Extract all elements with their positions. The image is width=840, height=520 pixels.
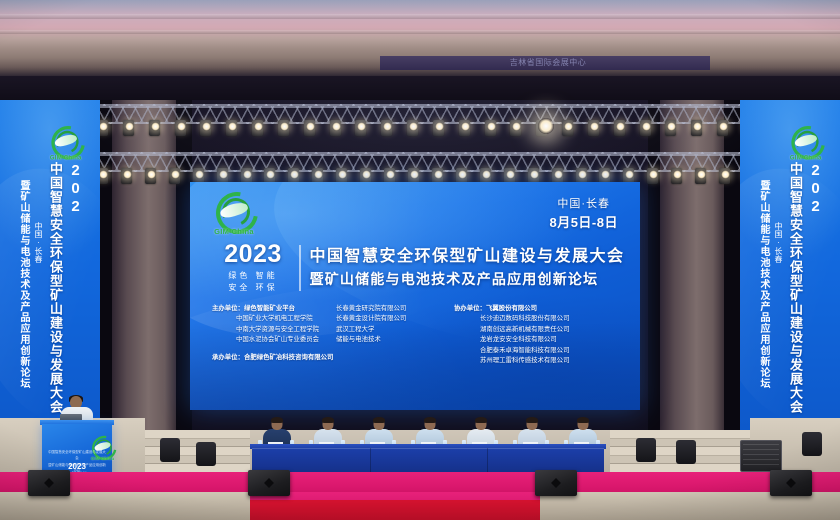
organizer-line: 承办单位：合肥绿色矿冶科技咨询有限公司 [212, 353, 330, 363]
stage-light [458, 170, 467, 179]
stage-light [306, 122, 315, 131]
title-divider [299, 245, 301, 291]
venue-sign-text: 吉林省国际会展中心 [398, 57, 698, 69]
event-keywords: 绿色 智能 安全 环保 [216, 270, 290, 293]
banner-year-right: 2023 [807, 162, 824, 218]
wall-shadow [724, 100, 740, 430]
stage-light [461, 122, 470, 131]
cohost-label: 协办单位：飞翼股份有限公司 [454, 304, 604, 314]
ceiling-beam [0, 30, 840, 34]
stage-floor-light [196, 442, 216, 466]
stage-light [123, 170, 132, 179]
stage-light [434, 170, 443, 179]
panelist-hair [322, 417, 334, 423]
event-title-main: 中国智慧安全环保型矿山建设与发展大会 [310, 247, 625, 267]
panelist-hair [577, 417, 589, 423]
host-label: 主办单位：绿色智能矿业平台 [212, 304, 330, 314]
panelist-hair [424, 417, 436, 423]
stage-light [171, 170, 180, 179]
panelist-hair [475, 417, 487, 423]
stage-light [530, 170, 539, 179]
host-item: 中国水泥协会矿山专业委员会 [212, 335, 330, 345]
stage-floor-light [636, 438, 656, 462]
host-item: 长春黄金设计院有限公司 [336, 314, 448, 324]
event-location-date: 中国·长春 8月5日-8日 [549, 196, 618, 232]
banner-text-columns-right: 2023 中国智慧安全环保型矿山建设与发展大会 中国·长春 暨矿山储能与电池技术… [740, 162, 840, 462]
stage-light [590, 122, 599, 131]
stage-light [482, 170, 491, 179]
host-item: 中南大学资源与安全工程学院 [212, 325, 330, 335]
panelist-hair [271, 417, 283, 423]
stage-light [254, 122, 263, 131]
stage-light [177, 122, 186, 131]
host-item: 中国矿业大学机电工程学院 [212, 314, 330, 324]
banner-year-left: 2023 [67, 162, 84, 218]
right-vertical-banner: GIM China 2023 中国智慧安全环保型矿山建设与发展大会 中国·长春 … [740, 100, 840, 470]
gim-china-logo-icon: GIM China [208, 192, 260, 240]
floor-monitor-speaker [28, 470, 70, 496]
stage-light [506, 170, 515, 179]
host-item: 长春黄金研究院有限公司 [336, 304, 448, 314]
logo-text: GIM China [45, 154, 87, 161]
stage-light [125, 122, 134, 131]
red-carpet-runner [250, 500, 540, 520]
stage-light [195, 170, 204, 179]
stage-light [99, 170, 108, 179]
cohost-column: 协办单位：飞翼股份有限公司 长沙迪迈数码科技股份有限公司 湖南创远高新机械有限责… [454, 304, 604, 396]
floor-monitor-speaker [770, 470, 812, 496]
stage-steps-left [140, 430, 250, 476]
stage-light [409, 122, 418, 131]
banner-city-right: 中国·长春 [773, 222, 784, 266]
stage-light [410, 170, 419, 179]
podium-title-main: 中国智慧安全环保型矿山建设与发展大会 [48, 449, 106, 462]
stage-floor-light [802, 432, 822, 456]
cohost-item: 长沙迪迈数码科技股份有限公司 [454, 314, 604, 324]
stage-light [721, 170, 730, 179]
banner-subtitle-right: 暨矿山储能与电池技术及产品应用创新论坛 [756, 180, 771, 450]
gim-china-logo-icon: GIM China [785, 126, 827, 164]
banner-subtitle-left: 暨矿山储能与电池技术及产品应用创新论坛 [16, 180, 31, 450]
event-dates: 8月5日-8日 [549, 213, 618, 233]
stage-pillar-left [112, 100, 178, 430]
sponsor-block: 主办单位：绿色智能矿业平台 中国矿业大学机电工程学院 中南大学资源与安全工程学院… [212, 304, 620, 396]
conference-stage-photo: 吉林省国际会展中心 GIM China 2023 中国智慧安全环保型矿山建设与发… [0, 0, 840, 520]
event-titles: 中国智慧安全环保型矿山建设与发展大会 暨矿山储能与电池技术及产品应用创新论坛 [310, 247, 625, 288]
stage-light [280, 122, 289, 131]
cohost-item: 湖南创远高新机械有限责任公司 [454, 325, 604, 335]
event-title-sub: 暨矿山储能与电池技术及产品应用创新论坛 [310, 270, 625, 288]
equipment-case [740, 440, 782, 472]
stage-light [538, 118, 554, 134]
stage-floor-light [160, 438, 180, 462]
stage-light-row-upper [92, 120, 752, 142]
stage-light [435, 122, 444, 131]
cohost-item: 合肥泰禾卓海智能科技有限公司 [454, 346, 604, 356]
ceiling-beam [0, 14, 840, 19]
cohost-item: 龙岩龙安安全科技有限公司 [454, 335, 604, 345]
event-year: 2023 [216, 242, 290, 267]
host-column-1: 主办单位：绿色智能矿业平台 中国矿业大学机电工程学院 中南大学资源与安全工程学院… [212, 304, 330, 396]
main-led-screen: GIM China 中国·长春 8月5日-8日 2023 绿色 智能 安全 环保… [190, 182, 640, 410]
banner-city-left: 中国·长春 [33, 222, 44, 266]
stage-light [147, 170, 156, 179]
stage-light [554, 170, 563, 179]
host-item: 武汉工程大学 [336, 325, 448, 335]
host-item: 储能与电池技术 [336, 335, 448, 345]
floor-monitor-speaker [535, 470, 577, 496]
case-texture [743, 444, 779, 468]
stage-light [243, 170, 252, 179]
stage-light [332, 122, 341, 131]
stage-pillar-right [660, 100, 726, 430]
banner-title-right: 中国智慧安全环保型矿山建设与发展大会 [786, 162, 805, 460]
stage-light [219, 170, 228, 179]
stage-light [487, 122, 496, 131]
stage-floor-light [676, 440, 696, 464]
stage-light [642, 122, 651, 131]
host-column-2: 长春黄金研究院有限公司 长春黄金设计院有限公司 武汉工程大学 储能与电池技术 [336, 304, 448, 396]
logo-text: GIM China [785, 154, 827, 161]
keyword-line-2: 安全 环保 [216, 282, 290, 294]
keyword-line-1: 绿色 智能 [216, 270, 290, 282]
panelist-hair [526, 417, 538, 423]
gim-china-logo-icon: GIM China [45, 126, 87, 164]
logo-text: GIM China [208, 227, 260, 236]
stage-light [99, 122, 108, 131]
cohost-item: 苏州理工雷科传感技术有限公司 [454, 356, 604, 366]
stage-light [578, 170, 587, 179]
panelist-hair [373, 417, 385, 423]
stage-light [151, 122, 160, 131]
stage-light [616, 122, 625, 131]
event-year-block: 2023 绿色 智能 安全 环保 [216, 242, 290, 293]
event-title-block: 2023 绿色 智能 安全 环保 中国智慧安全环保型矿山建设与发展大会 暨矿山储… [216, 242, 620, 293]
event-location: 中国·长春 [549, 196, 618, 213]
floor-monitor-speaker [248, 470, 290, 496]
